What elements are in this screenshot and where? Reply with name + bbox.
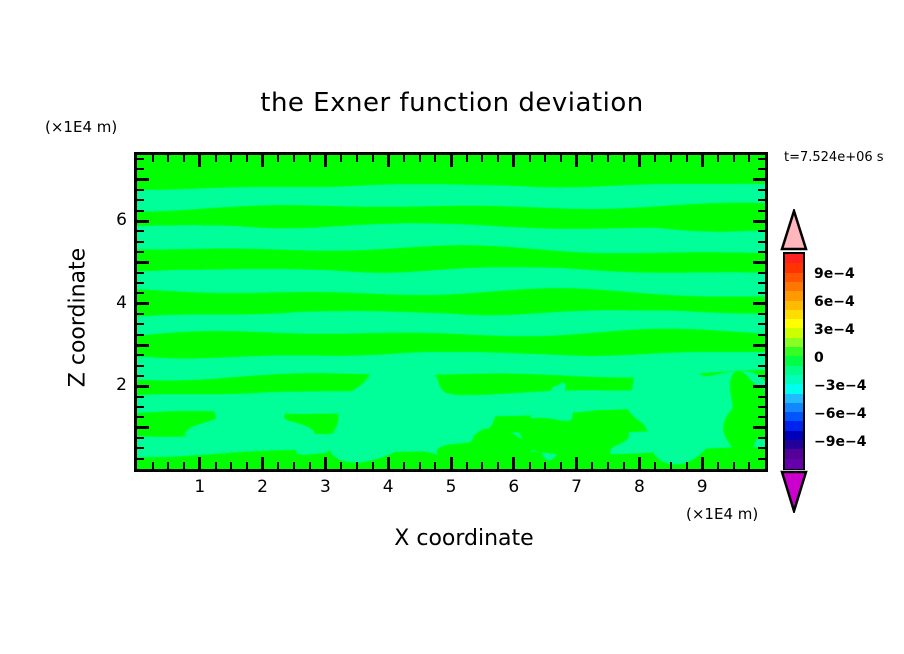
y-tick-minor-right <box>758 375 765 377</box>
y-tick-minor <box>137 354 144 356</box>
colorbar-bands <box>783 252 805 470</box>
y-tick-minor-right <box>758 323 765 325</box>
x-tick-minor-top <box>466 155 468 162</box>
y-tick-minor-right <box>758 158 765 160</box>
y-tick-minor-right <box>758 313 765 315</box>
x-tick-major-top <box>575 155 578 167</box>
x-tick-minor-top <box>560 155 562 162</box>
x-tick-minor-top <box>529 155 531 162</box>
y-tick-minor <box>137 158 144 160</box>
x-tick-label: 8 <box>619 477 659 497</box>
x-tick-major-top <box>324 155 327 167</box>
y-tick-minor <box>137 406 144 408</box>
colorbar-tick-label: −3e−4 <box>814 378 866 394</box>
x-tick-minor-top <box>591 155 593 162</box>
x-tick-major-top <box>450 155 453 167</box>
y-tick-major-right <box>753 344 765 347</box>
y-tick-minor-right <box>758 230 765 232</box>
x-tick-label: 6 <box>494 477 534 497</box>
x-tick-minor <box>733 462 735 469</box>
y-tick-minor <box>137 282 144 284</box>
y-tick-major-right <box>753 426 765 429</box>
x-tick-minor <box>340 462 342 469</box>
x-tick-minor <box>419 462 421 469</box>
x-tick-minor-top <box>340 155 342 162</box>
colorbar-tick-label: 0 <box>814 350 824 366</box>
x-tick-major-top <box>198 155 201 167</box>
x-tick-label: 5 <box>431 477 471 497</box>
x-tick-minor <box>356 462 358 469</box>
x-tick-minor <box>591 462 593 469</box>
y-tick-label: 2 <box>87 375 127 395</box>
y-tick-minor-right <box>758 199 765 201</box>
y-tick-minor <box>137 210 144 212</box>
x-tick-minor-top <box>309 155 311 162</box>
y-tick-minor-right <box>758 365 765 367</box>
x-tick-major <box>512 457 515 469</box>
x-tick-minor-top <box>152 155 154 162</box>
y-tick-minor-right <box>758 458 765 460</box>
x-tick-major-top <box>701 155 704 167</box>
y-tick-minor <box>137 437 144 439</box>
y-tick-major <box>137 220 149 223</box>
y-tick-minor <box>137 168 144 170</box>
y-tick-label: 4 <box>87 293 127 313</box>
x-tick-minor <box>686 462 688 469</box>
y-tick-minor-right <box>758 168 765 170</box>
contour-field-canvas <box>137 155 765 469</box>
x-tick-minor-top <box>372 155 374 162</box>
y-tick-minor <box>137 323 144 325</box>
x-tick-minor <box>403 462 405 469</box>
y-tick-label: 6 <box>87 210 127 230</box>
x-tick-minor-top <box>293 155 295 162</box>
y-tick-major-right <box>753 261 765 264</box>
x-tick-minor <box>544 462 546 469</box>
y-tick-minor <box>137 365 144 367</box>
x-tick-major-top <box>512 155 515 167</box>
x-tick-major-top <box>387 155 390 167</box>
x-tick-major-top <box>638 155 641 167</box>
x-tick-minor <box>497 462 499 469</box>
x-tick-minor <box>607 462 609 469</box>
x-tick-minor-top <box>544 155 546 162</box>
y-tick-minor <box>137 396 144 398</box>
y-tick-minor-right <box>758 272 765 274</box>
x-tick-minor <box>215 462 217 469</box>
x-tick-label: 4 <box>368 477 408 497</box>
chart-title: the Exner function deviation <box>0 88 904 118</box>
x-tick-minor-top <box>654 155 656 162</box>
x-tick-major <box>261 457 264 469</box>
x-tick-major <box>638 457 641 469</box>
colorbar-under-arrow <box>779 469 809 517</box>
x-tick-minor-top <box>215 155 217 162</box>
x-tick-minor-top <box>607 155 609 162</box>
x-tick-major <box>387 457 390 469</box>
y-tick-minor-right <box>758 406 765 408</box>
colorbar-tick-label: −9e−4 <box>814 434 866 450</box>
x-tick-minor <box>277 462 279 469</box>
y-tick-minor <box>137 334 144 336</box>
x-tick-minor <box>293 462 295 469</box>
x-tick-minor <box>372 462 374 469</box>
x-tick-minor-top <box>733 155 735 162</box>
y-tick-minor <box>137 375 144 377</box>
x-tick-major <box>575 457 578 469</box>
x-tick-minor <box>529 462 531 469</box>
y-tick-minor-right <box>758 189 765 191</box>
x-tick-minor-top <box>670 155 672 162</box>
x-tick-minor-top <box>277 155 279 162</box>
x-tick-minor <box>623 462 625 469</box>
y-tick-minor <box>137 189 144 191</box>
x-tick-major <box>701 457 704 469</box>
x-tick-minor-top <box>481 155 483 162</box>
x-tick-minor-top <box>497 155 499 162</box>
y-tick-minor <box>137 241 144 243</box>
x-tick-minor <box>246 462 248 469</box>
x-tick-minor-top <box>717 155 719 162</box>
x-tick-major <box>198 457 201 469</box>
x-tick-label: 3 <box>305 477 345 497</box>
x-tick-minor-top <box>434 155 436 162</box>
x-tick-label: 2 <box>243 477 283 497</box>
y-tick-minor <box>137 272 144 274</box>
y-tick-minor-right <box>758 334 765 336</box>
x-tick-minor <box>167 462 169 469</box>
x-tick-minor <box>717 462 719 469</box>
colorbar-tick-label: −6e−4 <box>814 406 866 422</box>
x-tick-minor <box>560 462 562 469</box>
x-tick-minor-top <box>419 155 421 162</box>
x-tick-major <box>324 457 327 469</box>
x-tick-minor <box>309 462 311 469</box>
x-tick-minor-top <box>246 155 248 162</box>
x-tick-minor <box>481 462 483 469</box>
x-tick-minor-top <box>403 155 405 162</box>
y-tick-major <box>137 385 149 388</box>
y-tick-major <box>137 302 149 305</box>
x-tick-major <box>450 457 453 469</box>
x-tick-minor-top <box>356 155 358 162</box>
x-tick-minor-top <box>623 155 625 162</box>
x-tick-minor-top <box>167 155 169 162</box>
y-tick-major <box>137 178 149 181</box>
y-tick-major-right <box>753 178 765 181</box>
x-tick-label: 1 <box>180 477 220 497</box>
y-tick-minor-right <box>758 354 765 356</box>
x-tick-label: 7 <box>557 477 597 497</box>
y-tick-minor <box>137 292 144 294</box>
x-tick-minor-top <box>686 155 688 162</box>
x-tick-minor <box>434 462 436 469</box>
y-tick-minor-right <box>758 447 765 449</box>
y-tick-minor-right <box>758 251 765 253</box>
x-tick-minor <box>748 462 750 469</box>
plot-area <box>134 152 768 472</box>
x-tick-minor-top <box>183 155 185 162</box>
colorbar: 9e−46e−43e−40−3e−4−6e−4−9e−4 <box>778 207 904 517</box>
y-tick-minor-right <box>758 416 765 418</box>
contour-plot-figure: the Exner function deviation (×1E4 m) (×… <box>0 0 904 654</box>
y-tick-minor <box>137 416 144 418</box>
y-tick-major-right <box>753 302 765 305</box>
x-axis-title: X coordinate <box>234 526 694 551</box>
x-tick-minor-top <box>748 155 750 162</box>
x-tick-label: 9 <box>682 477 722 497</box>
y-tick-minor <box>137 199 144 201</box>
y-tick-minor <box>137 447 144 449</box>
y-tick-minor <box>137 313 144 315</box>
y-tick-minor-right <box>758 282 765 284</box>
y-tick-major-right <box>753 220 765 223</box>
x-tick-minor <box>152 462 154 469</box>
y-tick-minor-right <box>758 292 765 294</box>
y-tick-minor <box>137 251 144 253</box>
x-tick-minor <box>654 462 656 469</box>
y-tick-major <box>137 344 149 347</box>
colorbar-over-arrow <box>779 209 809 255</box>
x-tick-minor <box>230 462 232 469</box>
y-tick-major <box>137 426 149 429</box>
colorbar-tick-label: 3e−4 <box>814 322 855 338</box>
x-tick-minor <box>670 462 672 469</box>
y-tick-major <box>137 261 149 264</box>
colorbar-band <box>785 459 803 469</box>
y-axis-unit-label: (×1E4 m) <box>45 118 117 136</box>
y-tick-minor-right <box>758 241 765 243</box>
y-tick-major-right <box>753 385 765 388</box>
y-tick-minor-right <box>758 437 765 439</box>
x-tick-minor-top <box>230 155 232 162</box>
x-tick-minor <box>466 462 468 469</box>
x-tick-minor <box>183 462 185 469</box>
time-annotation: t=7.524e+06 s <box>784 150 884 165</box>
colorbar-tick-label: 9e−4 <box>814 266 855 282</box>
x-tick-major-top <box>261 155 264 167</box>
y-tick-minor-right <box>758 210 765 212</box>
y-tick-minor <box>137 458 144 460</box>
y-tick-minor <box>137 230 144 232</box>
y-tick-minor-right <box>758 396 765 398</box>
colorbar-tick-label: 6e−4 <box>814 294 855 310</box>
x-axis-unit-label: (×1E4 m) <box>686 505 758 523</box>
